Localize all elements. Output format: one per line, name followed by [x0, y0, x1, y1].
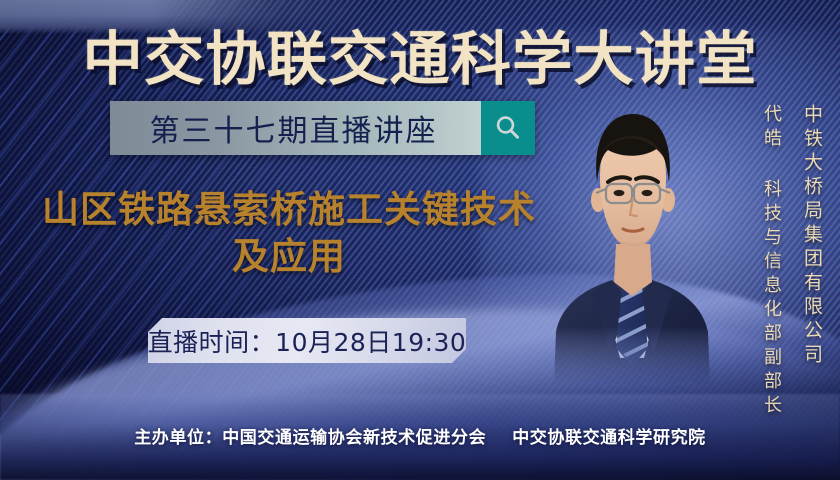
speaker-name-role: 代皓 科技与信息化部副部长 [758, 104, 784, 419]
episode-bar: 第三十七期直播讲座 [110, 101, 535, 155]
episode-label: 第三十七期直播讲座 [110, 101, 481, 155]
page-title: 中交协联交通科学大讲堂 [0, 12, 840, 96]
organizers-line: 主办单位：中国交通运输协会新技术促进分会中交协联交通科学研究院 [0, 423, 840, 448]
search-icon-button[interactable] [481, 101, 535, 155]
search-icon [493, 113, 523, 143]
speaker-portrait [540, 96, 726, 384]
organizer-prefix: 主办单位： [134, 428, 222, 448]
broadcast-time: 直播时间：10月28日19:30 [148, 318, 466, 363]
lecture-topic: 山区铁路悬索桥施工关键技术 及应用 [24, 186, 554, 281]
lecture-topic-line1: 山区铁路悬索桥施工关键技术 [24, 186, 554, 233]
lecture-topic-line2: 及应用 [24, 233, 554, 280]
speaker-organization: 中铁大桥局集团有限公司 [799, 104, 826, 368]
webinar-poster: 中交协联交通科学大讲堂 第三十七期直播讲座 山区铁路悬索桥施工关键技术 及应用 … [0, 0, 840, 480]
organizer-name-2: 中交协联交通科学研究院 [512, 428, 706, 448]
organizer-name-1: 中国交通运输协会新技术促进分会 [222, 428, 486, 448]
